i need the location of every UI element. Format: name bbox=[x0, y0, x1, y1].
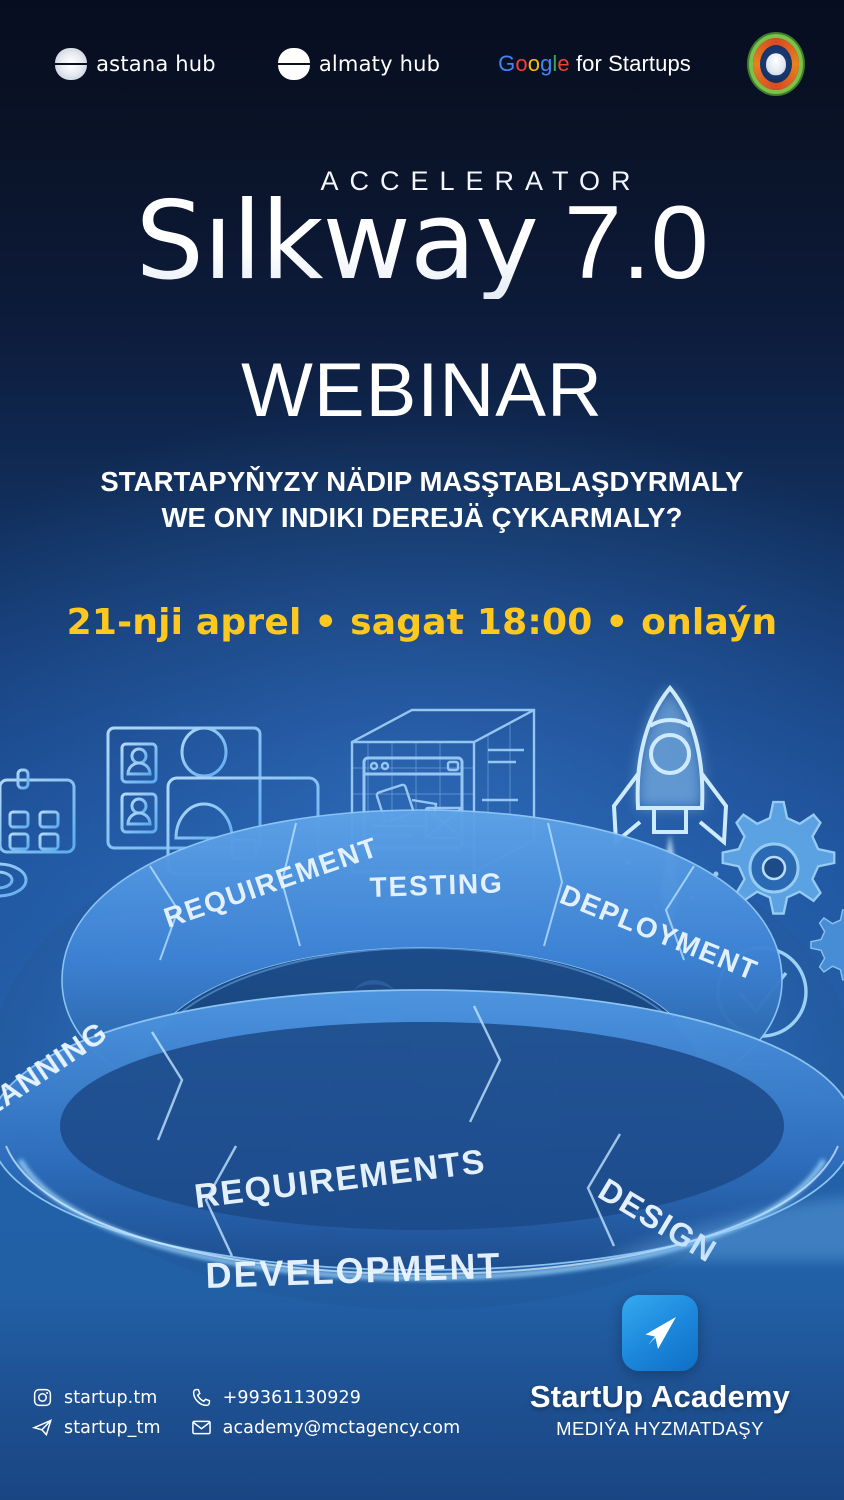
contact-email-address: academy@mctagency.com bbox=[223, 1418, 461, 1438]
partner-logo-bar: astana hub almaty hub Google for Startup… bbox=[0, 34, 844, 94]
lifecycle-illustration-graphic: REQUIREMENT TESTING DEPLOYMENT bbox=[0, 660, 844, 1340]
ring-label-testing: TESTING bbox=[369, 867, 504, 903]
event-subtitle: STARTAPYŇYZY NÄDIP MASŞTABLAŞDYRMALY WE … bbox=[0, 464, 844, 537]
event-subtitle-line-1: STARTAPYŇYZY NÄDIP MASŞTABLAŞDYRMALY bbox=[0, 464, 844, 500]
phone-icon bbox=[191, 1387, 212, 1408]
brand-version: 7.0 bbox=[564, 188, 709, 298]
hub-split-circle-icon bbox=[55, 48, 87, 80]
contact-instagram[interactable]: startup.tm bbox=[32, 1387, 161, 1408]
event-datetime-line: 21-nji aprel • sagat 18:00 • onlaýn bbox=[0, 602, 844, 643]
contact-email[interactable]: academy@mctagency.com bbox=[191, 1417, 461, 1438]
contact-block: startup.tm startup_tm +99361130929 bbox=[32, 1387, 460, 1438]
brand-name: Sılkway bbox=[135, 185, 538, 299]
contact-telegram[interactable]: startup_tm bbox=[32, 1417, 161, 1438]
contact-telegram-handle: startup_tm bbox=[64, 1418, 161, 1438]
partner-label-almaty-hub: almaty hub bbox=[319, 52, 440, 76]
hub-split-circle-icon bbox=[278, 48, 310, 80]
event-subtitle-line-2: WE ONY INDIKI DEREJÄ ÇYKARMALY? bbox=[0, 500, 844, 536]
event-type-heading: WEBINAR bbox=[0, 353, 844, 429]
media-partner-name: StartUp Academy bbox=[510, 1380, 810, 1414]
contact-phone-number: +99361130929 bbox=[223, 1388, 361, 1408]
media-partner-block: StartUp Academy MEDIÝA HYZMATDAŞY bbox=[510, 1295, 810, 1440]
state-emblem-icon bbox=[753, 38, 799, 90]
instagram-icon bbox=[32, 1387, 53, 1408]
poster-canvas: astana hub almaty hub Google for Startup… bbox=[0, 0, 844, 1500]
arrow-glyph bbox=[636, 1309, 684, 1357]
partner-logo-google-for-startups: Google for Startups bbox=[498, 51, 691, 77]
telegram-arrow-icon bbox=[622, 1295, 698, 1371]
google-wordmark: Google for Startups bbox=[498, 51, 691, 77]
partner-logo-astana-hub: astana hub bbox=[55, 48, 216, 80]
footer: startup.tm startup_tm +99361130929 bbox=[0, 1320, 844, 1500]
lifecycle-illustration: REQUIREMENT TESTING DEPLOYMENT bbox=[0, 660, 844, 1340]
telegram-icon bbox=[32, 1417, 53, 1438]
partner-logo-almaty-hub: almaty hub bbox=[278, 48, 440, 80]
partner-label-astana-hub: astana hub bbox=[96, 52, 216, 76]
brand-title-block: ACCELERATOR Sılkway 7.0 bbox=[0, 168, 844, 299]
contact-instagram-handle: startup.tm bbox=[64, 1388, 157, 1408]
google-suffix: for Startups bbox=[570, 51, 691, 76]
contact-social-column: startup.tm startup_tm bbox=[32, 1387, 161, 1438]
media-partner-role: MEDIÝA HYZMATDAŞY bbox=[510, 1418, 810, 1440]
contact-phone[interactable]: +99361130929 bbox=[191, 1387, 461, 1408]
contact-direct-column: +99361130929 academy@mctagency.com bbox=[191, 1387, 461, 1438]
partner-logo-state-emblem bbox=[753, 38, 799, 90]
mail-icon bbox=[191, 1417, 212, 1438]
